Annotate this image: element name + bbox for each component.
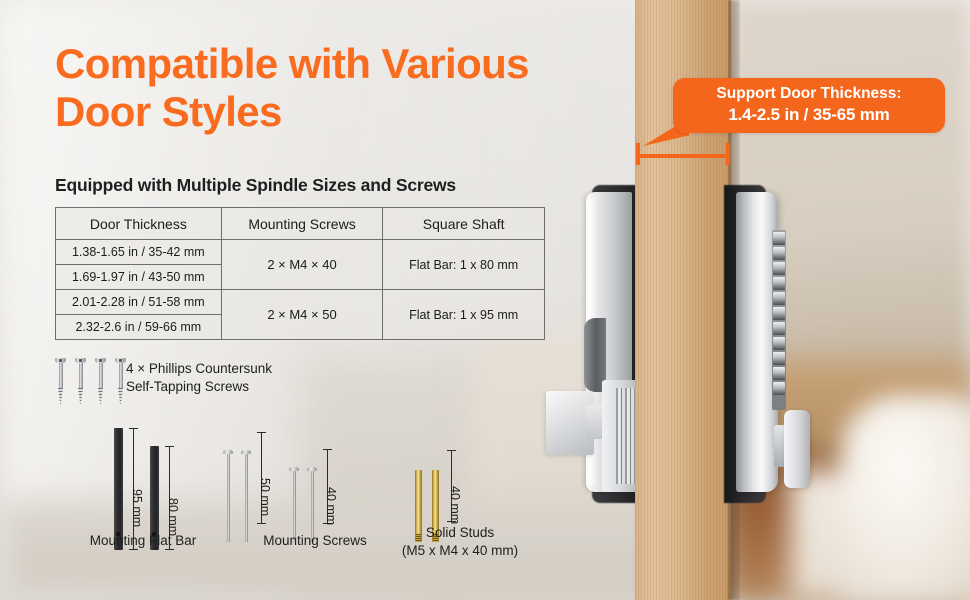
self-tapping-screw [95, 358, 106, 404]
page-title: Compatible with Various Door Styles [55, 40, 529, 136]
flat-bar-group: 95 mm 80 mm [105, 420, 235, 550]
col-door-thickness: Door Thickness [56, 208, 222, 240]
infographic-canvas: Compatible with Various Door Styles Supp… [0, 0, 970, 600]
callout-line-1: Support Door Thickness: [683, 85, 935, 104]
caption-line-1: Solid Studs [375, 524, 545, 542]
keypad-buttons [772, 230, 786, 410]
mounting-screw-50mm [243, 450, 249, 542]
measure-bar [636, 154, 730, 158]
dimension-label: 50 mm [258, 478, 272, 516]
spec-table: Door Thickness Mounting Screws Square Sh… [55, 207, 545, 340]
mounting-screws-group: 50 mm 40 mm [225, 432, 365, 542]
door-thickness-callout: Support Door Thickness: 1.4-2.5 in / 35-… [673, 78, 945, 133]
table-header-row: Door Thickness Mounting Screws Square Sh… [56, 208, 545, 240]
section-subtitle: Equipped with Multiple Spindle Sizes and… [55, 175, 456, 196]
table-row: 2.01-2.28 in / 51-58 mm 2 × M4 × 50 Flat… [56, 290, 545, 315]
cell-shaft: Flat Bar: 1 x 95 mm [383, 290, 545, 340]
parts-diagram: 4 × Phillips Countersunk Self-Tapping Sc… [0, 352, 600, 600]
col-square-shaft: Square Shaft [383, 208, 545, 240]
cell-thickness: 1.69-1.97 in / 43-50 mm [56, 265, 222, 290]
cell-screws: 2 × M4 × 50 [221, 290, 383, 340]
background-pillow [840, 395, 970, 600]
thickness-measure-bracket [636, 143, 730, 165]
cell-screws: 2 × M4 × 40 [221, 240, 383, 290]
label-line-2: Self-Tapping Screws [126, 378, 272, 396]
dimension-label: 40 mm [448, 486, 462, 524]
dimension-label: 95 mm [130, 489, 144, 527]
self-tapping-screw [75, 358, 86, 404]
mounting-screw-40mm [309, 467, 315, 542]
page-title-line-2: Door Styles [55, 88, 529, 136]
caption-mounting-screws: Mounting Screws [240, 532, 390, 550]
table-row: 1.38-1.65 in / 35-42 mm 2 × M4 × 40 Flat… [56, 240, 545, 265]
cell-thickness: 1.38-1.65 in / 35-42 mm [56, 240, 222, 265]
self-tapping-screw [55, 358, 66, 404]
mounting-screw-50mm [225, 450, 231, 542]
self-tapping-screw [115, 358, 126, 404]
self-tapping-screws-label: 4 × Phillips Countersunk Self-Tapping Sc… [126, 360, 272, 396]
cell-thickness: 2.32-2.6 in / 59-66 mm [56, 315, 222, 340]
exterior-knob [784, 410, 810, 488]
cell-shaft: Flat Bar: 1 x 80 mm [383, 240, 545, 290]
callout-line-2: 1.4-2.5 in / 35-65 mm [683, 104, 935, 125]
dimension-label: 80 mm [166, 498, 180, 536]
label-line-1: 4 × Phillips Countersunk [126, 360, 272, 378]
page-title-line-1: Compatible with Various [55, 40, 529, 88]
measure-cap-left [636, 143, 640, 165]
measure-cap-right [726, 143, 730, 165]
cell-thickness: 2.01-2.28 in / 51-58 mm [56, 290, 222, 315]
col-mounting-screws: Mounting Screws [221, 208, 383, 240]
caption-flat-bar: Mounting Flat Bar [78, 532, 208, 550]
self-tapping-screws-group [55, 358, 133, 404]
dimension-label: 40 mm [324, 487, 338, 525]
mounting-screw-40mm [291, 467, 297, 542]
caption-solid-studs: Solid Studs (M5 x M4 x 40 mm) [375, 524, 545, 559]
caption-line-2: (M5 x M4 x 40 mm) [375, 542, 545, 560]
